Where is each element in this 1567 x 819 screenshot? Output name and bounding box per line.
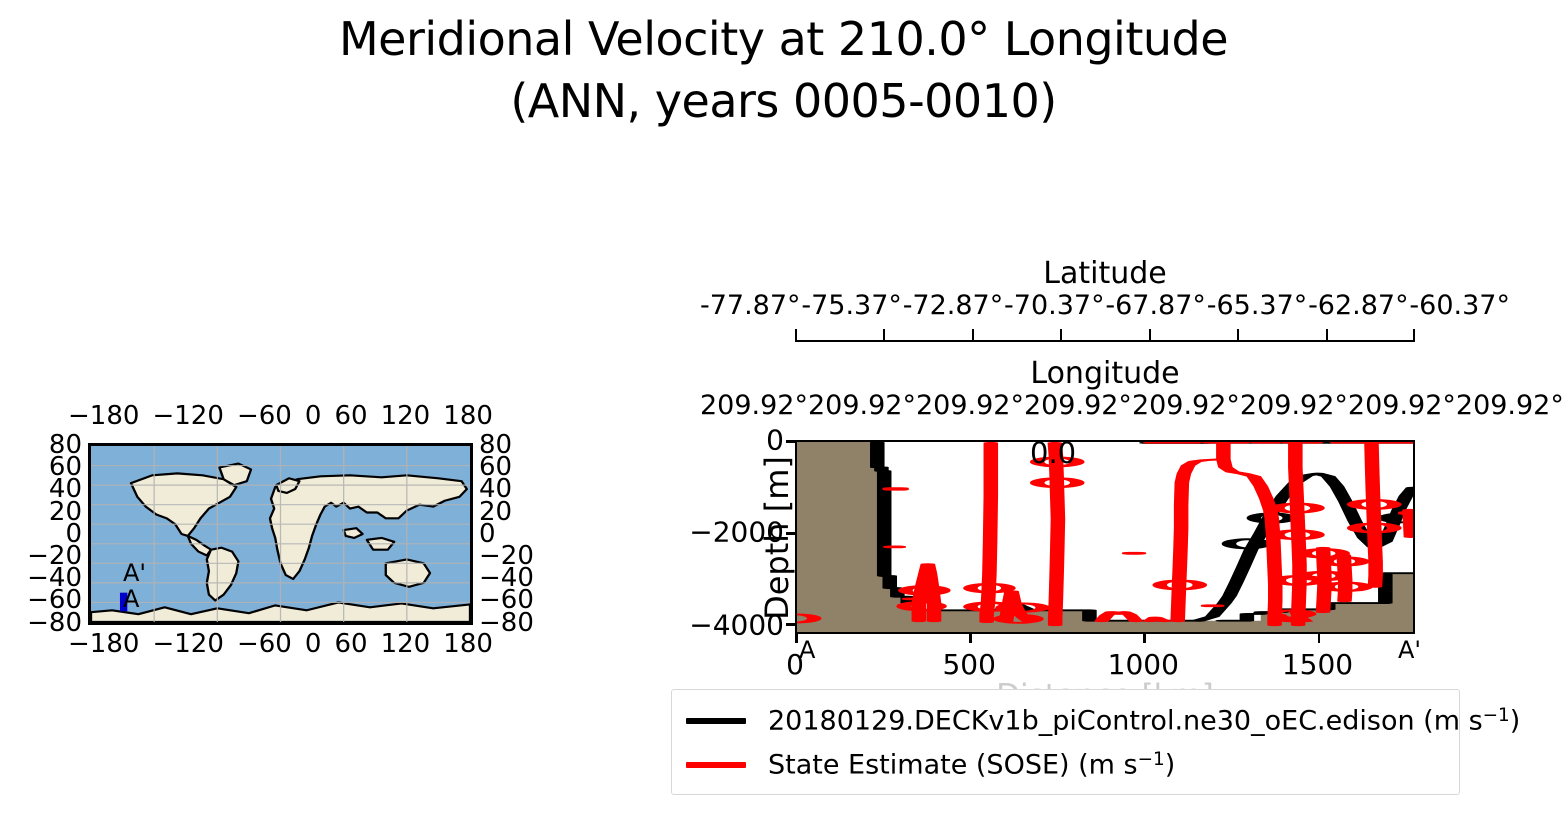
distance-tick-label: 500 <box>942 648 995 681</box>
latitude-tick-label: -67.87° <box>1105 290 1206 321</box>
contour-level-label: 0.0 <box>1030 440 1076 470</box>
longitude-tick-label: 209.92° <box>1024 390 1132 421</box>
cross-section-plot-area[interactable]: 0.0 <box>795 440 1415 634</box>
map-xtick-label: −60 <box>237 401 292 431</box>
distance-tick-label: 1500 <box>1282 648 1353 681</box>
cross-section-panel[interactable]: Depth [m] 0 −2000 −4000 0 500 1000 1500 … <box>795 440 1415 634</box>
world-map-graphic <box>91 446 470 622</box>
map-xtick-label: 60 <box>334 401 367 431</box>
latitude-axis-line <box>795 340 1415 342</box>
map-plot-area[interactable]: A' A <box>88 443 473 625</box>
longitude-tick-label: 209.92° <box>1456 390 1564 421</box>
depth-tick-label: −2000 <box>689 516 784 549</box>
map-xtick-label: −60 <box>237 629 292 659</box>
legend-entry-model[interactable]: 20180129.DECKv1b_piControl.ne30_oEC.edis… <box>686 699 1445 743</box>
map-xtick-label: 0 <box>305 401 322 431</box>
longitude-tick-label: 209.92° <box>808 390 916 421</box>
latitude-tick-label: -65.37° <box>1207 290 1308 321</box>
distance-tick-label: 1000 <box>1108 648 1179 681</box>
series-legend[interactable]: 20180129.DECKv1b_piControl.ne30_oEC.edis… <box>671 689 1460 795</box>
map-xtick-label: 120 <box>381 401 431 431</box>
latitude-axis-labels: -77.87° -75.37° -72.87° -70.37° -67.87° … <box>700 290 1510 321</box>
map-ytick-label: −80 <box>27 613 82 633</box>
legend-swatch-model-icon <box>686 718 746 724</box>
map-xtick-label: 120 <box>381 629 431 659</box>
latitude-tick-label: -62.87° <box>1308 290 1409 321</box>
map-xtick-label: −120 <box>152 401 223 431</box>
transect-start-marker: A <box>799 636 815 664</box>
map-y-axis-labels-right: 80 60 40 20 0 −20 −40 −60 −80 <box>479 435 534 633</box>
latitude-tick-label: -60.37° <box>1409 290 1510 321</box>
model-zero-contour <box>877 442 1413 620</box>
legend-label-model: 20180129.DECKv1b_piControl.ne30_oEC.edis… <box>768 705 1520 736</box>
latitude-axis-title: Latitude <box>795 256 1415 291</box>
depth-tick-label: −4000 <box>689 608 784 641</box>
velocity-contour-graphic <box>797 442 1413 632</box>
map-x-axis-labels-top: −180 −120 −60 0 60 120 180 <box>68 401 493 431</box>
longitude-axis-labels: 209.92° 209.92° 209.92° 209.92° 209.92° … <box>700 390 1510 421</box>
transect-end-marker: A' <box>1398 636 1421 664</box>
longitude-tick-label: 209.92° <box>1132 390 1240 421</box>
map-transect-start-label: A <box>123 587 139 611</box>
legend-swatch-observation-icon <box>686 762 746 768</box>
longitude-tick-label: 209.92° <box>916 390 1024 421</box>
longitude-tick-label: 209.92° <box>1240 390 1348 421</box>
latitude-tick-label: -72.87° <box>903 290 1004 321</box>
map-xtick-label: 180 <box>443 401 493 431</box>
depth-tick-label: 0 <box>766 424 784 457</box>
legend-entry-observation[interactable]: State Estimate (SOSE) (m s−1) <box>686 743 1445 787</box>
map-xtick-label: −120 <box>152 629 223 659</box>
map-xtick-label: 0 <box>305 629 322 659</box>
longitude-axis-title: Longitude <box>795 356 1415 391</box>
map-xtick-label: −180 <box>68 401 139 431</box>
legend-label-observation: State Estimate (SOSE) (m s−1) <box>768 749 1175 780</box>
map-x-axis-labels-bottom: −180 −120 −60 0 60 120 180 <box>68 629 493 659</box>
latitude-tick-label: -75.37° <box>801 290 902 321</box>
longitude-tick-label: 209.92° <box>1348 390 1456 421</box>
map-xtick-label: 60 <box>334 629 367 659</box>
map-y-axis-labels-left: 80 60 40 20 0 −20 −40 −60 −80 <box>27 435 82 633</box>
page-title: Meridional Velocity at 210.0° Longitude … <box>0 8 1567 132</box>
latitude-tick-label: -70.37° <box>1004 290 1105 321</box>
map-transect-end-label: A' <box>123 561 146 585</box>
world-map-inset[interactable]: −180 −120 −60 0 60 120 180 −180 −120 −60… <box>88 443 473 625</box>
map-ytick-label: −80 <box>479 613 534 633</box>
